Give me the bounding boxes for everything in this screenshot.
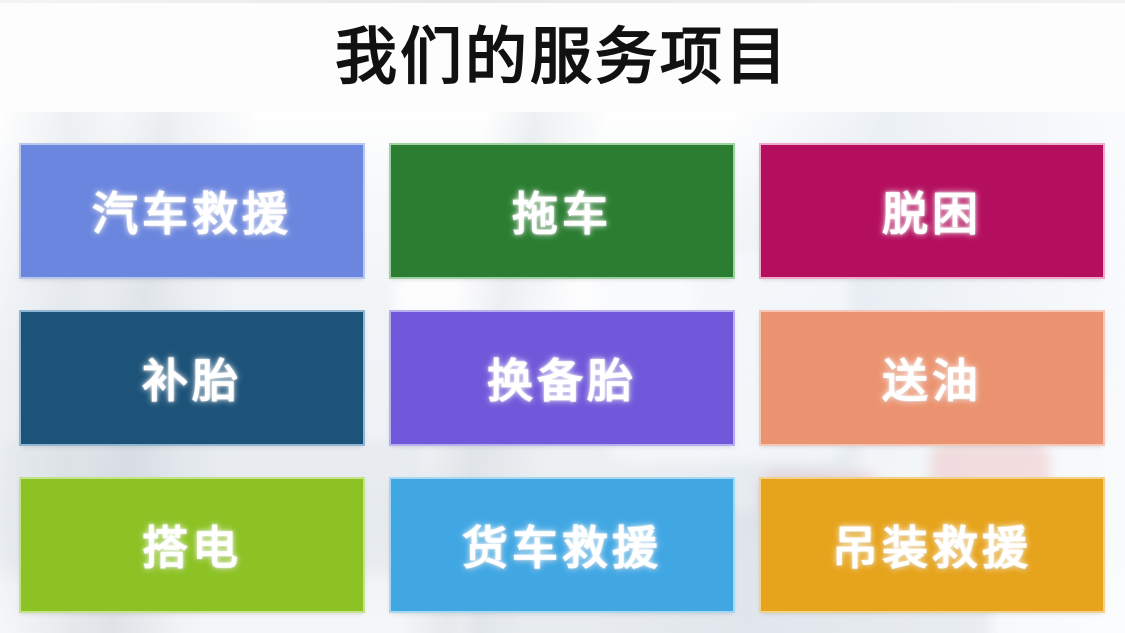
service-tile-label: 脱困 bbox=[882, 178, 982, 244]
service-tile-label: 拖车 bbox=[512, 178, 612, 244]
service-tile-truck-rescue[interactable]: 货车救援 bbox=[391, 479, 733, 611]
service-tile-label: 补胎 bbox=[142, 345, 242, 411]
service-tile-car-rescue[interactable]: 汽车救援 bbox=[21, 145, 363, 277]
service-tile-label: 汽车救援 bbox=[92, 178, 292, 244]
service-tile-label: 搭电 bbox=[142, 512, 242, 578]
service-tile-fuel-delivery[interactable]: 送油 bbox=[761, 312, 1103, 444]
service-tile-label: 换备胎 bbox=[487, 345, 637, 411]
service-tile-grid: 汽车救援拖车脱困补胎换备胎送油搭电货车救援吊装救援 bbox=[21, 145, 1104, 615]
service-tile-extrication[interactable]: 脱困 bbox=[761, 145, 1103, 277]
service-tile-crane-hoist-rescue[interactable]: 吊装救援 bbox=[761, 479, 1103, 611]
service-tile-label: 吊装救援 bbox=[832, 512, 1032, 578]
service-tile-label: 货车救援 bbox=[462, 512, 662, 578]
top-divider bbox=[0, 0, 1125, 3]
service-tile-tire-repair[interactable]: 补胎 bbox=[21, 312, 363, 444]
service-tile-tow-truck[interactable]: 拖车 bbox=[391, 145, 733, 277]
service-tile-jump-start[interactable]: 搭电 bbox=[21, 479, 363, 611]
service-tile-spare-tire-change[interactable]: 换备胎 bbox=[391, 312, 733, 444]
service-poster: 我们的服务项目 汽车救援拖车脱困补胎换备胎送油搭电货车救援吊装救援 bbox=[0, 0, 1125, 633]
service-tile-label: 送油 bbox=[882, 345, 982, 411]
page-title: 我们的服务项目 bbox=[0, 18, 1125, 96]
